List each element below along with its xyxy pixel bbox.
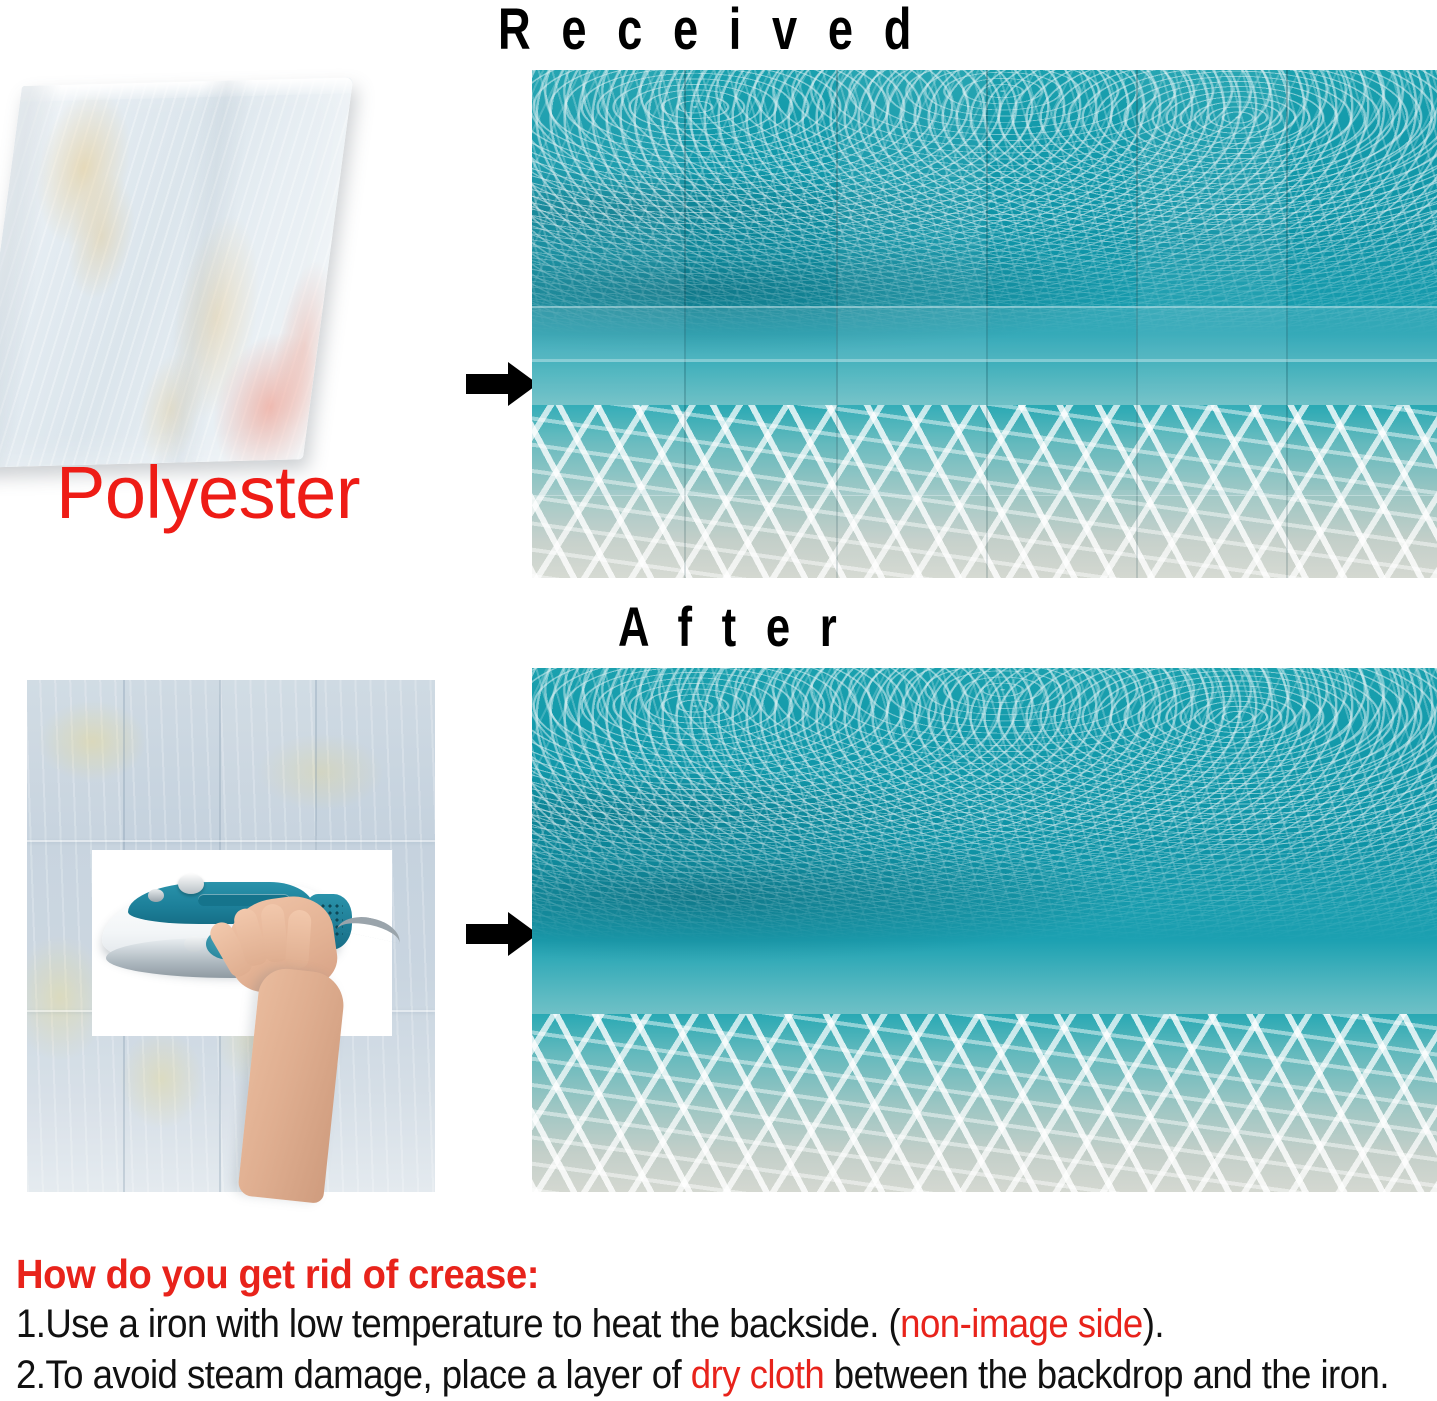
arrow-shaft bbox=[466, 374, 510, 394]
material-label-polyester: Polyester bbox=[56, 456, 360, 530]
instructions-block: How do you get rid of crease: 1.Use a ir… bbox=[16, 1252, 1437, 1398]
instruction-line-2: 2.To avoid steam damage, place a layer o… bbox=[16, 1353, 1316, 1398]
instruction-2-text-before: 2.To avoid steam damage, place a layer o… bbox=[16, 1353, 691, 1397]
after-backdrop-photo bbox=[532, 668, 1437, 1192]
ocean-ripple-layer bbox=[532, 668, 1437, 940]
received-heading: R e c e i v e d bbox=[498, 0, 920, 63]
instruction-1-text-before: 1.Use a iron with low temperature to hea… bbox=[16, 1302, 900, 1346]
hand-finger bbox=[285, 909, 312, 968]
instruction-2-text-after: between the backdrop and the iron. bbox=[824, 1353, 1389, 1397]
received-backdrop-photo bbox=[532, 70, 1437, 578]
arrow-right-icon-received bbox=[466, 362, 538, 406]
forearm bbox=[237, 966, 347, 1204]
arrow-right-icon-after bbox=[466, 912, 538, 956]
instruction-1-highlight: non-image side bbox=[900, 1302, 1143, 1346]
instruction-2-highlight: dry cloth bbox=[691, 1353, 824, 1397]
instructions-title: How do you get rid of crease: bbox=[16, 1252, 1338, 1296]
arrow-shaft bbox=[466, 924, 510, 944]
folded-polyester-backdrop-swatch bbox=[14, 76, 424, 486]
after-heading: A f t e r bbox=[618, 594, 845, 659]
crease-fold-overlay bbox=[532, 70, 1437, 578]
iron-steam-knob bbox=[178, 874, 204, 894]
hand-holding-iron bbox=[215, 898, 347, 1198]
ocean-seabed-layer bbox=[532, 1014, 1437, 1192]
ocean-artwork bbox=[532, 668, 1437, 1192]
instruction-1-text-after: ). bbox=[1143, 1302, 1164, 1346]
instruction-line-1: 1.Use a iron with low temperature to hea… bbox=[16, 1302, 1316, 1347]
swatch-fabric bbox=[0, 77, 353, 468]
iron-button bbox=[184, 936, 204, 952]
iron-spray-button bbox=[148, 889, 164, 902]
